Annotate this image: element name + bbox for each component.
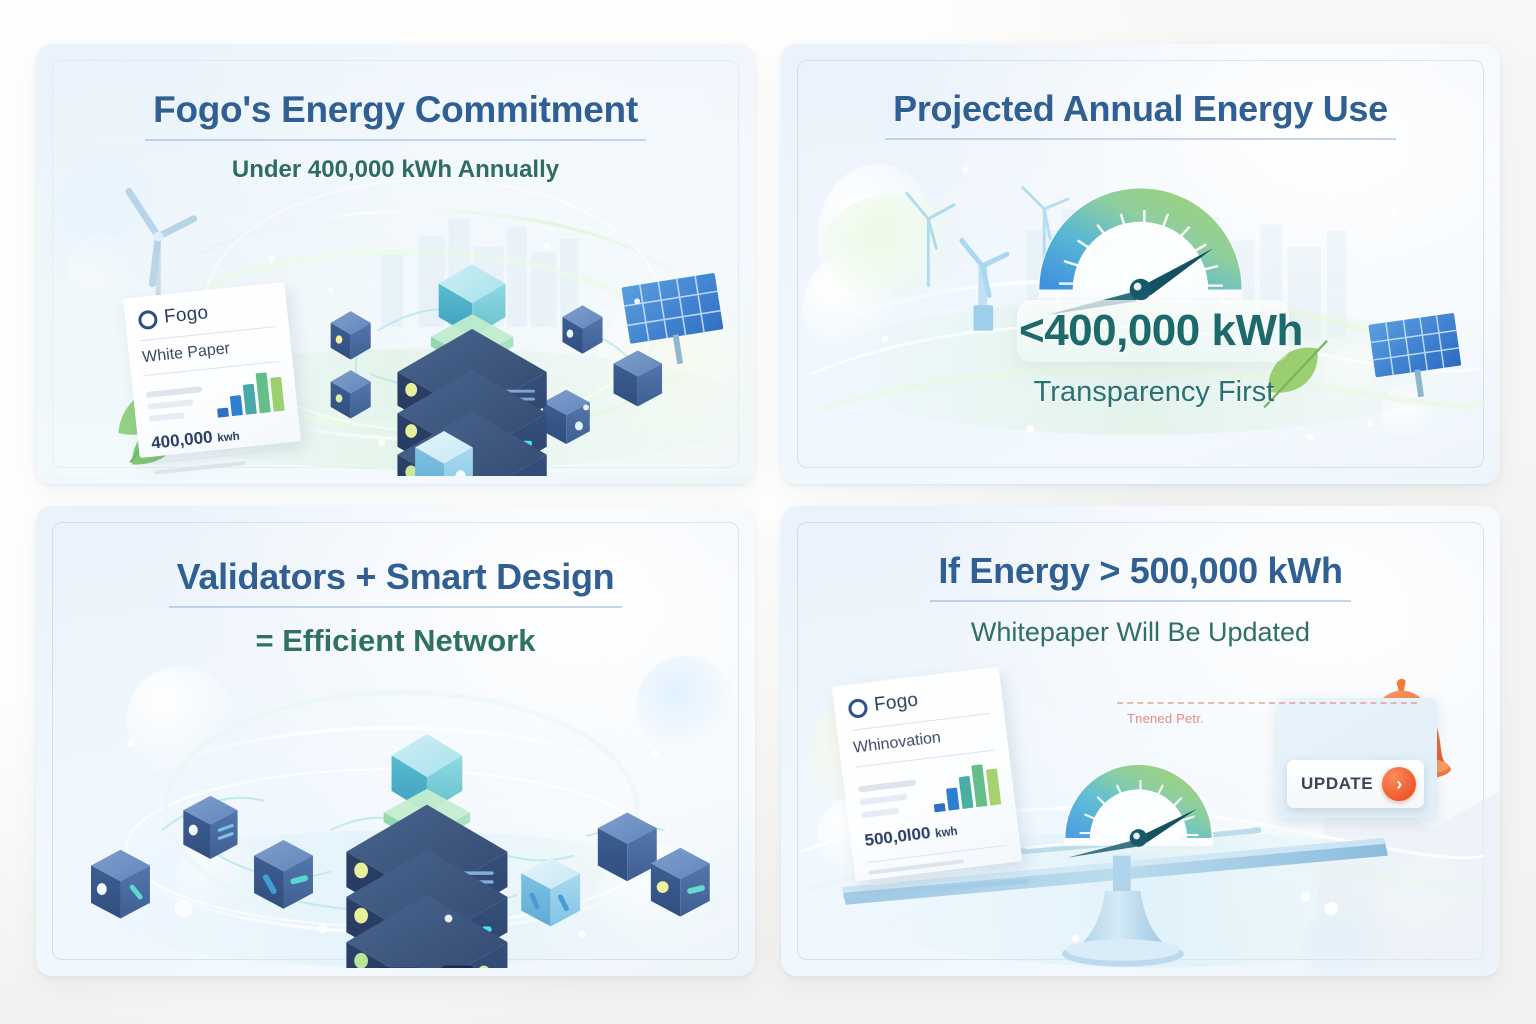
document-bar-chart: [929, 759, 1001, 813]
update-button-label: UPDATE: [1301, 774, 1373, 794]
panel4-headings: If Energy > 500,000 kWh Whitepaper Will …: [781, 506, 1500, 648]
placeholder-lines: [146, 385, 218, 425]
panel-projected-energy: <400,000 kWh Transparency First Projecte…: [781, 44, 1500, 484]
alert-note-text: Tnened Petr.: [1127, 711, 1204, 726]
page-subtitle: Under 400,000 kWh Annually: [36, 156, 755, 184]
panel-threshold-update: Tnened Petr. UPDATE › Fogo Whinovation: [781, 506, 1500, 976]
document-bar-chart: [214, 369, 285, 418]
panel-energy-commitment: Fogo White Paper 400: [36, 44, 755, 484]
page-title: If Energy > 500,000 kWh: [930, 552, 1350, 602]
page-title: Projected Annual Energy Use: [885, 90, 1396, 140]
update-button[interactable]: UPDATE ›: [1287, 760, 1424, 808]
placeholder-lines: [858, 778, 935, 822]
alert-dash-line: [1117, 702, 1417, 704]
panel3-headings: Validators + Smart Design = Efficient Ne…: [36, 506, 755, 659]
document-value: 500,0l00 kwh: [863, 814, 1004, 851]
fogo-logo-text: Fogo: [163, 302, 209, 328]
page-subtitle: Whitepaper Will Be Updated: [781, 617, 1500, 648]
whitepaper-document: Fogo White Paper 400: [123, 282, 301, 458]
gauge-icon: [1064, 763, 1213, 857]
gauge-icon: [1038, 187, 1242, 315]
panel-validators: Validators + Smart Design = Efficient Ne…: [36, 506, 755, 976]
fogo-logo-text: Fogo: [873, 690, 919, 717]
fogo-logo: Fogo: [137, 295, 275, 331]
fogo-logo-ring: [847, 697, 868, 718]
whitepaper-document: Fogo Whinovation 500: [832, 666, 1023, 881]
fogo-logo-ring: [137, 309, 158, 330]
fogo-logo: Fogo: [847, 681, 989, 720]
panel1-headings: Fogo's Energy Commitment Under 400,000 k…: [36, 44, 755, 184]
chevron-right-icon: ›: [1382, 767, 1416, 801]
projected-energy-value: <400,000 kWh: [1019, 306, 1289, 356]
page-title: Validators + Smart Design: [169, 558, 623, 608]
panel2-headings: Projected Annual Energy Use: [781, 44, 1500, 140]
infographic-canvas: Fogo White Paper 400: [0, 0, 1536, 1024]
page-title: Fogo's Energy Commitment: [145, 90, 646, 141]
page-subtitle: = Efficient Network: [36, 623, 755, 659]
wind-turbine-icon: [907, 193, 954, 285]
tagline: Transparency First: [1019, 376, 1289, 409]
